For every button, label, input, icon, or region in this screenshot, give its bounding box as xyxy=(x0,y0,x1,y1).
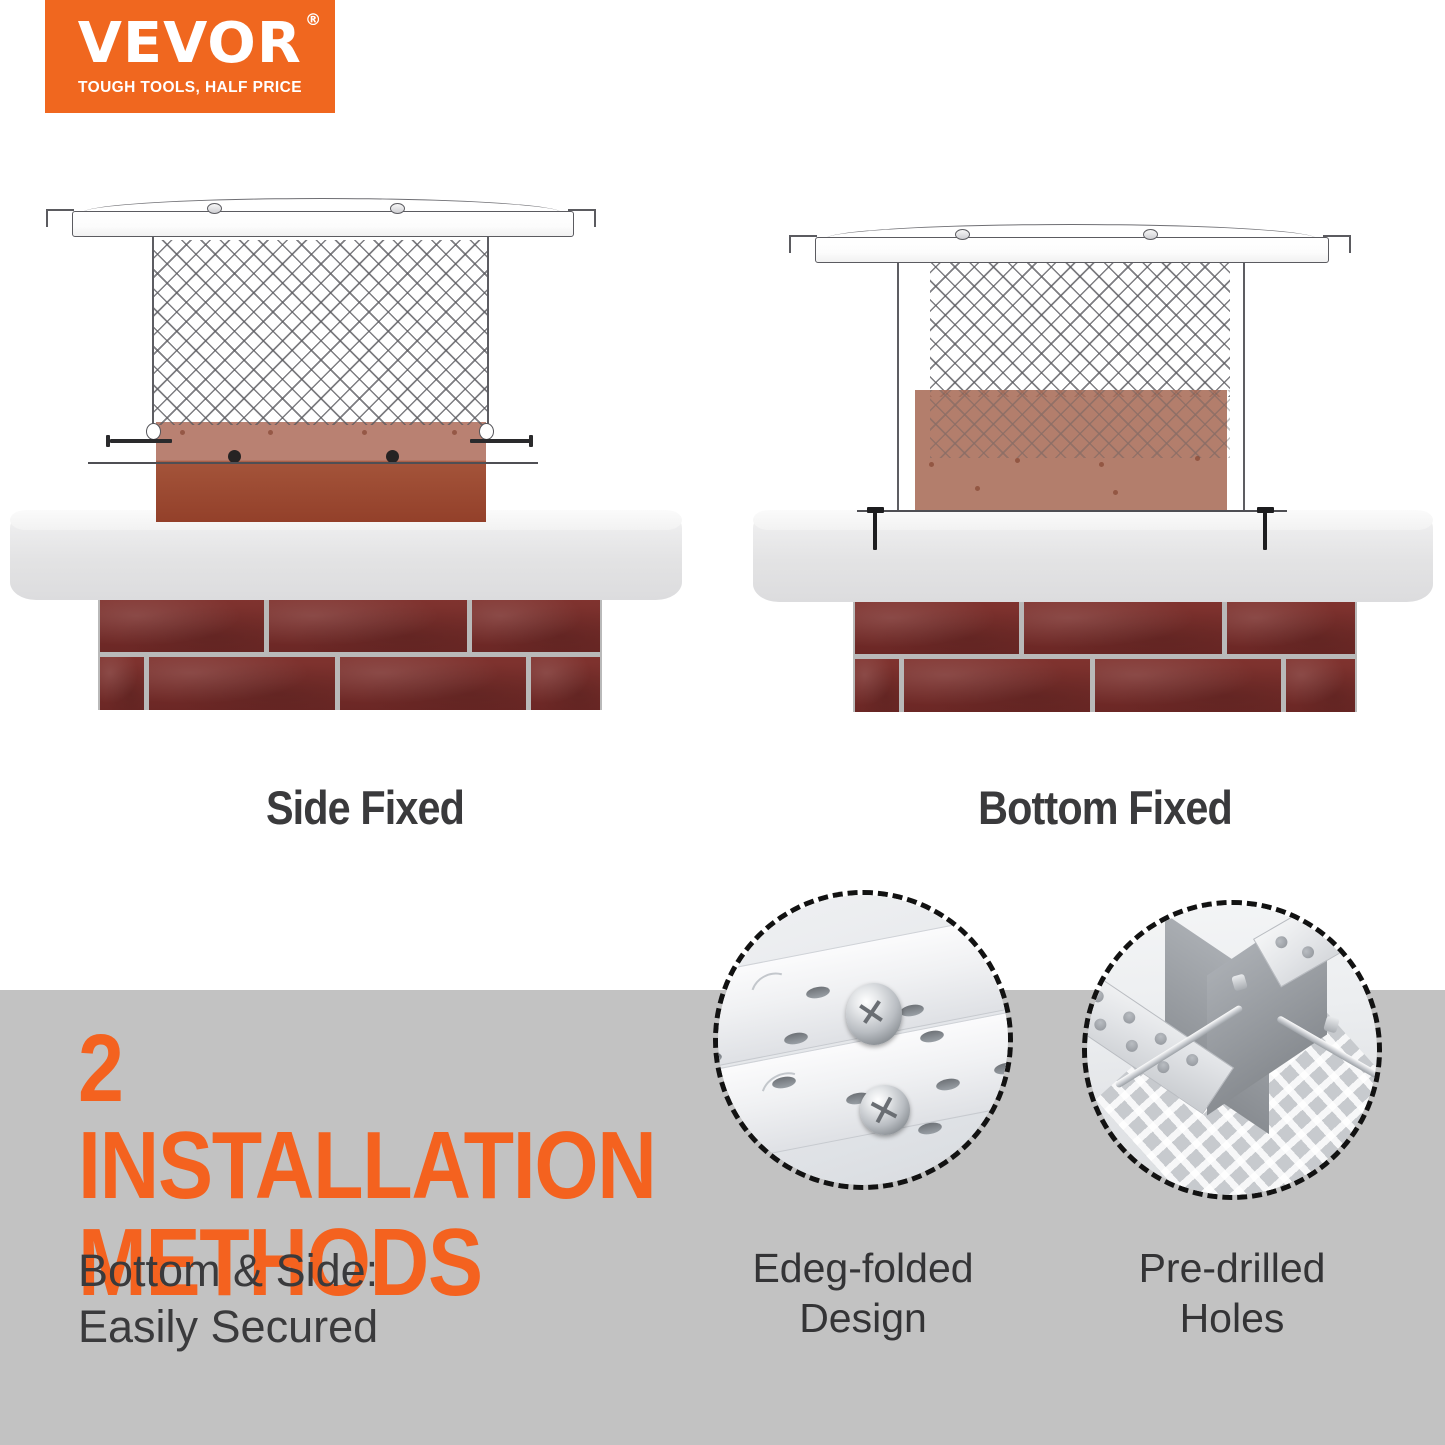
flue-tile xyxy=(156,422,486,522)
inset-edge-folded-design xyxy=(713,890,1013,1190)
chimney-crown xyxy=(10,510,682,600)
subtext-line-1: Bottom & Side: xyxy=(78,1243,678,1299)
chimney-crown xyxy=(753,510,1433,602)
headline-line-1: 2 INSTALLATION xyxy=(78,1020,628,1214)
phillips-screw-upper-icon xyxy=(846,983,902,1045)
cap-base-flange xyxy=(88,462,538,464)
brand-wordmark: VEVOR® xyxy=(78,16,302,72)
side-screw-head-right xyxy=(529,435,533,447)
chimney-brick-wall xyxy=(853,602,1357,712)
side-screw-left xyxy=(110,439,172,443)
lid-hook-right xyxy=(570,209,596,239)
photo-cap-corner-holes xyxy=(1087,905,1377,1195)
caption-bottom-fixed: Bottom Fixed xyxy=(828,780,1382,835)
brand-name: VEVOR xyxy=(78,11,302,76)
side-screw-head-left xyxy=(106,435,110,447)
bottom-screw-right xyxy=(1263,510,1267,550)
bottom-screw-left xyxy=(873,510,877,550)
cap-post-right xyxy=(487,232,489,432)
screw-ring-right xyxy=(479,423,494,440)
chimney-brick-wall xyxy=(98,600,602,710)
cap-lid xyxy=(815,224,1327,270)
mesh-screen xyxy=(154,240,488,425)
side-screw-right xyxy=(470,439,532,443)
brand-tagline: TOUGH TOOLS, HALF PRICE xyxy=(78,79,302,97)
caption-pre-drilled-line-2: Holes xyxy=(1072,1293,1392,1343)
feature-subtext: Bottom & Side: Easily Secured xyxy=(78,1243,678,1355)
lid-hook-left xyxy=(789,235,815,265)
caption-side-fixed: Side Fixed xyxy=(88,780,642,835)
screw-ring-left xyxy=(146,423,161,440)
subtext-line-2: Easily Secured xyxy=(78,1299,678,1355)
caption-edge-folded: Edeg-folded Design xyxy=(703,1243,1023,1343)
marketing-image-canvas: VEVOR® TOUGH TOOLS, HALF PRICE xyxy=(0,0,1445,1445)
lid-bolt-left xyxy=(207,203,222,214)
lid-hook-left xyxy=(46,209,72,239)
lid-bolt-right xyxy=(1143,229,1158,240)
lid-bolt-right xyxy=(390,203,405,214)
cap-post-left xyxy=(897,258,899,511)
vevor-logo: VEVOR® TOUGH TOOLS, HALF PRICE xyxy=(45,0,335,113)
caption-pre-drilled: Pre-drilled Holes xyxy=(1072,1243,1392,1343)
caption-pre-drilled-line-1: Pre-drilled xyxy=(1072,1243,1392,1293)
cap-post-left xyxy=(152,232,154,432)
lid-hook-right xyxy=(1325,235,1351,265)
mesh-screen xyxy=(930,262,1230,397)
cap-lid xyxy=(72,198,572,244)
cap-post-right xyxy=(1243,258,1245,511)
diagram-bottom-fixed xyxy=(745,210,1445,740)
inset-pre-drilled-holes xyxy=(1082,900,1382,1200)
caption-edge-folded-line-2: Design xyxy=(703,1293,1023,1343)
photo-edge-folded-strip xyxy=(718,895,1008,1185)
cap-base-flange xyxy=(857,510,1287,512)
phillips-screw-lower-icon xyxy=(860,1085,910,1135)
caption-edge-folded-line-1: Edeg-folded xyxy=(703,1243,1023,1293)
flue-tile xyxy=(915,390,1227,512)
lid-bolt-left xyxy=(955,229,970,240)
diagram-side-fixed xyxy=(0,180,700,740)
registered-trademark-icon: ® xyxy=(305,12,322,28)
